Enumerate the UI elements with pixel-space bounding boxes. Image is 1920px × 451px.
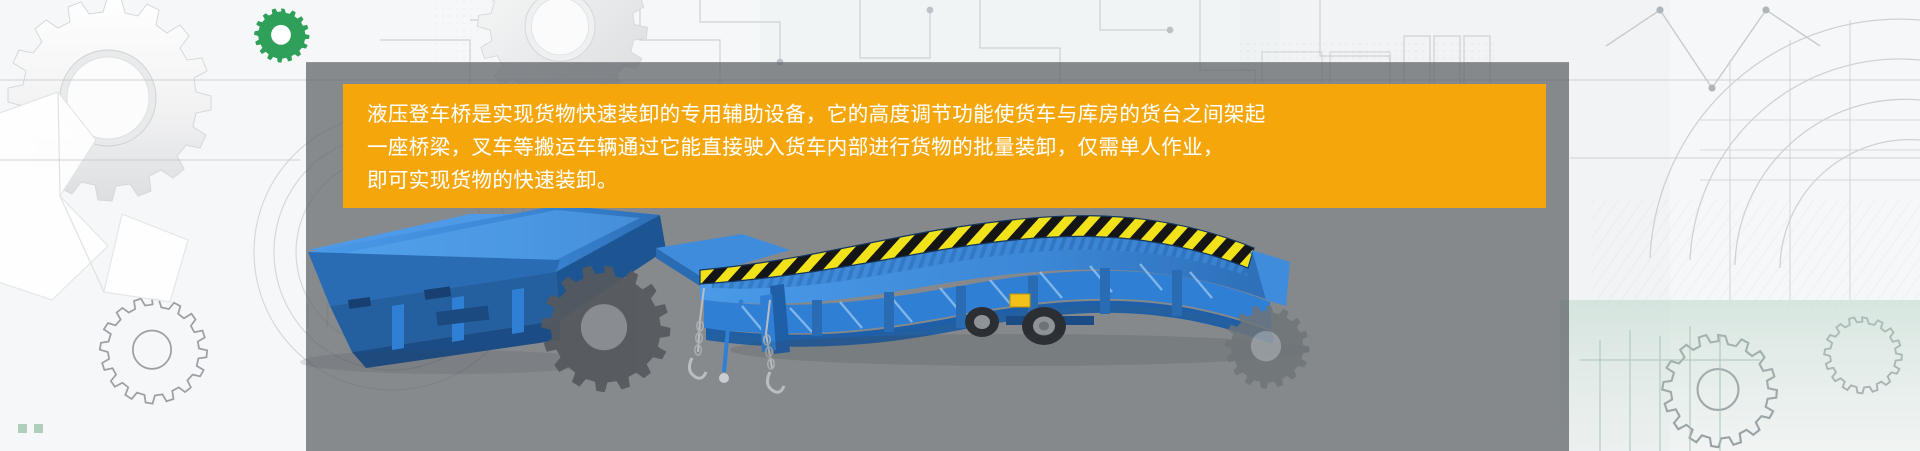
banner-hero: ||||||||| [0, 0, 1920, 451]
callout-text: 液压登车桥是实现货物快速装卸的专用辅助设备，它的高度调节功能使货车与库房的货台之… [367, 98, 1522, 197]
panel-top-highlight [306, 62, 1569, 63]
callout-box: 液压登车桥是实现货物快速装卸的专用辅助设备，它的高度调节功能使货车与库房的货台之… [343, 84, 1546, 208]
